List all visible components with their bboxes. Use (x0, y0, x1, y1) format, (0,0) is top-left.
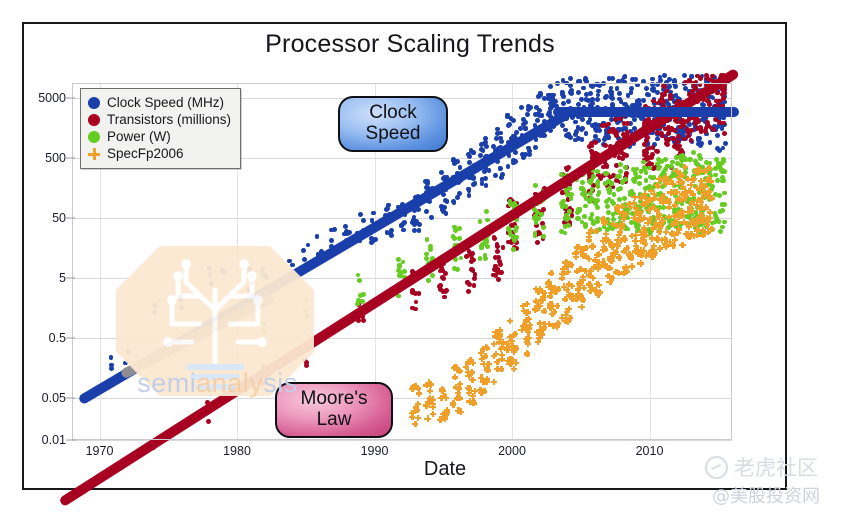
data-point-clock-speed (467, 193, 472, 198)
data-point-clock-speed (401, 228, 406, 233)
data-point-specfp (485, 367, 491, 373)
data-point-transistors (206, 419, 211, 424)
data-point-power (616, 187, 621, 192)
data-point-specfp (699, 232, 705, 238)
data-point-power (595, 205, 600, 210)
data-point-transistors (443, 271, 448, 276)
data-point-power (603, 181, 608, 186)
page-title: Processor Scaling Trends (150, 30, 670, 59)
data-point-specfp (549, 311, 555, 317)
data-point-clock-speed (617, 91, 622, 96)
data-point-specfp (595, 292, 601, 298)
data-point-power (580, 180, 585, 185)
data-point-power (483, 256, 488, 261)
data-point-specfp (532, 306, 538, 312)
data-point-transistors (495, 244, 500, 249)
data-point-specfp (450, 400, 456, 406)
data-point-specfp (676, 179, 682, 185)
data-point-clock-speed (568, 76, 573, 81)
data-point-specfp (593, 228, 599, 234)
data-point-specfp (409, 414, 415, 420)
data-point-clock-speed (260, 267, 265, 272)
data-point-specfp (547, 293, 553, 299)
data-point-clock-speed (655, 90, 660, 95)
data-point-specfp (640, 201, 646, 207)
dot-icon (88, 114, 100, 126)
data-point-specfp (649, 247, 655, 253)
data-point-specfp (485, 361, 491, 367)
data-point-clock-speed (506, 123, 511, 128)
chart-screenshot: Processor Scaling Trends 0.010.050.55505… (0, 0, 850, 518)
y-axis-tick-mark (66, 398, 75, 399)
data-point-power (591, 221, 596, 226)
data-point-power (631, 167, 636, 172)
data-point-clock-speed (576, 102, 581, 107)
data-point-clock-speed (682, 73, 687, 78)
watermark-brand-part1: semi (137, 368, 196, 398)
annotation-clock-speed-line1: Clock (352, 103, 434, 124)
data-point-specfp (478, 390, 484, 396)
data-point-clock-speed (527, 152, 532, 157)
data-point-transistors (469, 267, 474, 272)
data-point-specfp (498, 346, 504, 352)
data-point-transistors (601, 165, 606, 170)
data-point-power (560, 201, 565, 206)
data-point-transistors (614, 130, 619, 135)
data-point-specfp (642, 241, 648, 247)
data-point-transistors (675, 139, 680, 144)
data-point-specfp (655, 214, 661, 220)
y-axis-tick-label: 0.01 (42, 433, 66, 447)
data-point-specfp (412, 407, 418, 413)
data-point-transistors (678, 125, 683, 130)
data-point-clock-speed (641, 79, 646, 84)
data-point-specfp (628, 255, 634, 261)
data-point-clock-speed (715, 133, 720, 138)
data-point-specfp (690, 177, 696, 183)
data-point-specfp (469, 377, 475, 383)
data-point-specfp (535, 338, 541, 344)
data-point-specfp (641, 247, 647, 253)
x-axis-tick-label: 1980 (223, 444, 251, 458)
legend-item[interactable]: Clock Speed (MHz) (88, 94, 231, 111)
data-point-power (539, 212, 544, 217)
data-point-specfp (624, 245, 630, 251)
data-point-clock-speed (439, 204, 444, 209)
data-point-clock-speed (315, 234, 320, 239)
data-point-specfp (526, 316, 532, 322)
data-point-power (567, 209, 572, 214)
data-point-power (452, 236, 457, 241)
data-point-power (303, 309, 308, 314)
data-point-clock-speed (343, 224, 348, 229)
data-point-clock-speed (535, 112, 540, 117)
data-point-specfp (423, 402, 429, 408)
data-point-power (479, 244, 484, 249)
data-point-clock-speed (650, 77, 655, 82)
data-point-transistors (498, 262, 503, 267)
y-axis-tick-label: 0.05 (42, 391, 66, 405)
data-point-specfp (498, 366, 504, 372)
data-point-specfp (695, 197, 701, 203)
data-point-clock-speed (479, 147, 484, 152)
x-axis-tick-label: 2000 (498, 444, 526, 458)
data-point-specfp (509, 338, 515, 344)
data-point-specfp (631, 215, 637, 221)
data-point-specfp (587, 268, 593, 274)
data-point-clock-speed (219, 268, 224, 273)
data-point-clock-speed (247, 267, 252, 272)
data-point-specfp (511, 366, 517, 372)
data-point-power (582, 214, 587, 219)
data-point-specfp (430, 396, 436, 402)
data-point-power (508, 202, 513, 207)
data-point-specfp (452, 374, 458, 380)
data-point-power (609, 181, 614, 186)
y-axis-tick-label: 5 (59, 271, 66, 285)
data-point-specfp (704, 219, 710, 225)
data-point-specfp (478, 350, 484, 356)
y-axis-ticks (66, 83, 76, 440)
data-point-power (715, 178, 720, 183)
data-point-clock-speed (506, 164, 511, 169)
data-point-specfp (706, 165, 712, 171)
data-point-clock-speed (698, 143, 703, 148)
data-point-specfp (478, 374, 484, 380)
data-point-transistors (683, 80, 688, 85)
data-point-specfp (586, 230, 592, 236)
data-point-clock-speed (576, 79, 581, 84)
data-point-specfp (484, 345, 490, 351)
data-point-clock-speed (616, 79, 621, 84)
data-point-clock-speed (584, 79, 589, 84)
data-point-clock-speed (617, 97, 622, 102)
data-point-transistors (472, 276, 477, 281)
data-point-clock-speed (717, 148, 722, 153)
data-point-clock-speed (655, 137, 660, 142)
data-point-clock-speed (629, 86, 634, 91)
data-point-clock-speed (548, 84, 553, 89)
data-point-power (714, 157, 719, 162)
data-point-clock-speed (672, 81, 677, 86)
data-point-power (615, 174, 620, 179)
data-point-power (691, 150, 696, 155)
data-point-specfp (600, 237, 606, 243)
annotation-clock-speed-line2: Speed (352, 124, 434, 145)
data-point-specfp (603, 231, 609, 237)
data-point-specfp (524, 350, 530, 356)
y-axis-tick-label: 5000 (38, 91, 66, 105)
data-point-clock-speed (576, 136, 581, 141)
data-point-transistors (497, 270, 502, 275)
data-point-clock-speed (523, 120, 528, 125)
data-point-transistors (492, 235, 497, 240)
data-point-clock-speed (533, 145, 538, 150)
data-point-clock-speed (484, 144, 489, 149)
data-point-clock-speed (526, 107, 531, 112)
data-point-specfp (415, 415, 421, 421)
data-point-specfp (683, 231, 689, 237)
data-point-specfp (664, 198, 670, 204)
data-point-specfp (606, 239, 612, 245)
data-point-specfp (441, 393, 447, 399)
data-point-specfp (658, 223, 664, 229)
data-point-clock-speed (261, 272, 266, 277)
data-point-specfp (424, 415, 430, 421)
data-point-specfp (631, 194, 637, 200)
data-point-specfp (561, 270, 567, 276)
data-point-specfp (465, 368, 471, 374)
data-point-clock-speed (590, 97, 595, 102)
data-point-clock-speed (417, 228, 422, 233)
data-point-specfp (697, 167, 703, 173)
data-point-specfp (539, 331, 545, 337)
data-point-specfp (599, 262, 605, 268)
data-point-specfp (690, 220, 696, 226)
y-axis-tick-mark (66, 158, 75, 159)
data-point-specfp (616, 255, 622, 261)
semianalysis-watermark-text: semianalysis (100, 368, 335, 399)
y-axis-tick-mark (66, 98, 75, 99)
y-axis-tick-mark (66, 440, 75, 441)
data-point-clock-speed (152, 310, 157, 315)
data-point-specfp (654, 208, 660, 214)
data-point-power (426, 278, 431, 283)
data-point-power (675, 161, 680, 166)
data-point-power (579, 186, 584, 191)
data-point-specfp (670, 242, 676, 248)
data-point-specfp (580, 246, 586, 252)
gridline-horizontal (72, 338, 732, 339)
legend: Clock Speed (MHz)Transistors (millions)P… (80, 88, 241, 169)
data-point-specfp (426, 379, 432, 385)
data-point-specfp (705, 191, 711, 197)
data-point-specfp (672, 202, 678, 208)
data-point-transistors (696, 119, 701, 124)
data-point-transistors (441, 276, 446, 281)
data-point-clock-speed (495, 131, 500, 136)
data-point-transistors (679, 148, 684, 153)
data-point-specfp (679, 242, 685, 248)
data-point-specfp (457, 368, 463, 374)
data-point-power (637, 175, 642, 180)
data-point-transistors (711, 127, 716, 132)
data-point-power (541, 225, 546, 230)
data-point-specfp (548, 301, 554, 307)
gridline-horizontal (72, 440, 732, 441)
data-point-power (304, 314, 309, 319)
data-point-power (623, 177, 628, 182)
data-point-clock-speed (535, 118, 540, 123)
data-point-clock-speed (567, 135, 572, 140)
data-point-power (396, 257, 401, 262)
data-point-clock-speed (369, 236, 374, 241)
data-point-specfp (647, 216, 653, 222)
data-point-specfp (491, 379, 497, 385)
data-point-clock-speed (451, 157, 456, 162)
data-point-clock-speed (178, 294, 183, 299)
data-point-specfp (484, 379, 490, 385)
y-axis-tick-mark (66, 218, 75, 219)
data-point-clock-speed (595, 97, 600, 102)
data-point-specfp (596, 282, 602, 288)
data-point-specfp (574, 249, 580, 255)
data-point-specfp (697, 205, 703, 211)
data-point-clock-speed (246, 287, 251, 292)
legend-item[interactable]: Power (W) (88, 128, 231, 145)
data-point-power (595, 181, 600, 186)
data-point-specfp (641, 225, 647, 231)
data-point-specfp (578, 293, 584, 299)
data-point-transistors (685, 127, 690, 132)
data-point-clock-speed (574, 129, 579, 134)
data-point-power (566, 223, 571, 228)
data-point-specfp (491, 353, 497, 359)
data-point-clock-speed (579, 97, 584, 102)
data-point-specfp (467, 357, 473, 363)
data-point-specfp (629, 263, 635, 269)
data-point-specfp (637, 260, 643, 266)
data-point-specfp (654, 235, 660, 241)
data-point-specfp (523, 310, 529, 316)
data-point-clock-speed (588, 91, 593, 96)
data-point-clock-speed (250, 281, 255, 286)
data-point-power (687, 157, 692, 162)
data-point-power (718, 229, 723, 234)
data-point-specfp (590, 275, 596, 281)
data-point-clock-speed (576, 90, 581, 95)
data-point-clock-speed (519, 105, 524, 110)
data-point-power (605, 204, 610, 209)
data-point-specfp (555, 320, 561, 326)
data-point-specfp (671, 189, 677, 195)
data-point-power (721, 157, 726, 162)
data-point-power (567, 186, 572, 191)
data-point-specfp (567, 315, 573, 321)
data-point-power (511, 247, 516, 252)
data-point-clock-speed (439, 170, 444, 175)
data-point-transistors (410, 306, 415, 311)
data-point-clock-speed (596, 89, 601, 94)
data-point-clock-speed (697, 136, 702, 141)
data-point-clock-speed (358, 212, 363, 217)
data-point-specfp (509, 357, 515, 363)
data-point-power (559, 229, 564, 234)
trendline-clock-speed-plateau (553, 107, 739, 117)
data-point-specfp (494, 359, 500, 365)
data-point-transistors (469, 252, 474, 257)
data-point-specfp (455, 407, 461, 413)
data-point-transistors (501, 245, 506, 250)
data-point-specfp (629, 233, 635, 239)
data-point-clock-speed (482, 169, 487, 174)
x-axis-tick-label: 2010 (636, 444, 664, 458)
data-point-specfp (520, 323, 526, 329)
data-point-transistors (590, 151, 595, 156)
data-point-specfp (648, 188, 654, 194)
data-point-clock-speed (597, 128, 602, 133)
data-point-power (512, 238, 517, 243)
data-point-power (430, 273, 435, 278)
data-point-specfp (412, 383, 418, 389)
x-axis-tick-label: 1990 (361, 444, 389, 458)
data-point-transistors (699, 128, 704, 133)
data-point-specfp (641, 215, 647, 221)
data-point-transistors (624, 153, 629, 158)
data-point-specfp (562, 264, 568, 270)
data-point-transistors (466, 289, 471, 294)
data-point-clock-speed (417, 222, 422, 227)
data-point-specfp (466, 398, 472, 404)
legend-item[interactable]: SpecFp2006 (88, 145, 231, 162)
data-point-transistors (722, 131, 727, 136)
data-point-clock-speed (498, 166, 503, 171)
watermark-brand-part2: analy (196, 368, 263, 398)
data-point-clock-speed (560, 90, 565, 95)
y-axis-tick-label: 50 (52, 211, 66, 225)
data-point-clock-speed (561, 101, 566, 106)
legend-item-label: Transistors (millions) (107, 112, 231, 127)
data-point-clock-speed (521, 155, 526, 160)
data-point-specfp (619, 224, 625, 230)
data-point-clock-speed (493, 173, 498, 178)
dot-icon (88, 131, 100, 143)
data-point-clock-speed (445, 199, 450, 204)
y-axis-tick-label: 0.5 (49, 331, 66, 345)
data-point-transistors (465, 280, 470, 285)
data-point-transistors (442, 295, 447, 300)
data-point-power (617, 197, 622, 202)
data-point-transistors (541, 207, 546, 212)
data-point-specfp (416, 390, 422, 396)
legend-item[interactable]: Transistors (millions) (88, 111, 231, 128)
data-point-clock-speed (538, 91, 543, 96)
data-point-transistors (472, 283, 477, 288)
data-point-clock-speed (645, 92, 650, 97)
legend-item-label: SpecFp2006 (107, 146, 184, 161)
data-point-transistors (659, 131, 664, 136)
data-point-power (424, 252, 429, 257)
data-point-specfp (427, 388, 433, 394)
data-point-clock-speed (601, 81, 606, 86)
data-point-specfp (533, 286, 539, 292)
data-point-power (603, 171, 608, 176)
data-point-power (717, 193, 722, 198)
x-axis-label: Date (395, 458, 495, 481)
data-point-specfp (578, 304, 584, 310)
data-point-clock-speed (384, 207, 389, 212)
x-axis-tick-label: 1970 (86, 444, 114, 458)
data-point-clock-speed (471, 176, 476, 181)
watermark-brand-part3: sis (263, 368, 298, 398)
data-point-transistors (493, 264, 498, 269)
data-point-clock-speed (457, 191, 462, 196)
dot-icon (88, 97, 100, 109)
data-point-clock-speed (708, 140, 713, 145)
data-point-clock-speed (483, 136, 488, 141)
data-point-clock-speed (540, 113, 545, 118)
data-point-transistors (669, 127, 674, 132)
data-point-specfp (566, 292, 572, 298)
data-point-specfp (708, 226, 714, 232)
data-point-transistors (714, 99, 719, 104)
data-point-specfp (479, 356, 485, 362)
data-point-clock-speed (179, 305, 184, 310)
y-axis-tick-label: 500 (45, 151, 66, 165)
data-point-power (606, 187, 611, 192)
legend-item-label: Clock Speed (MHz) (107, 95, 224, 110)
data-point-specfp (675, 214, 681, 220)
